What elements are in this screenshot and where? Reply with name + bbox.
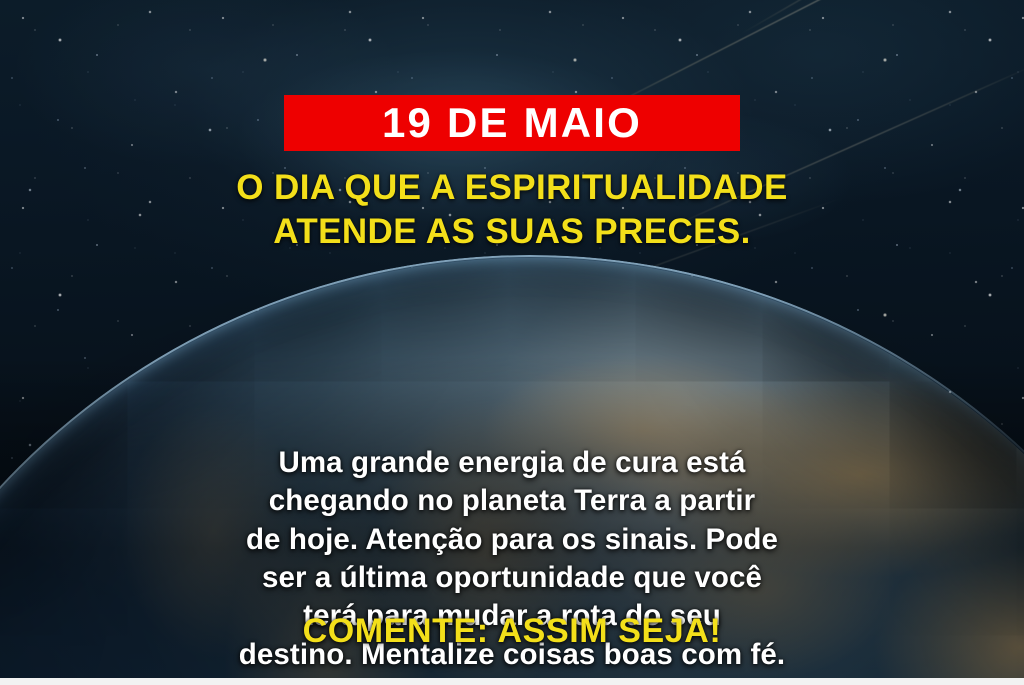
call-to-action: COMENTE: ASSIM SEJA! [0,614,1024,648]
poster-canvas: 19 DE MAIO O DIA QUE A ESPIRITUALIDADE A… [0,0,1024,685]
body-copy-line-3: de hoje. Atenção para os sinais. Pode [52,521,972,559]
body-copy-line-2: chegando no planeta Terra a partir [52,482,972,520]
headline-line-1: O DIA QUE A ESPIRITUALIDADE [46,166,978,210]
date-banner: 19 DE MAIO [284,95,740,151]
body-copy-line-1: Uma grande energia de cura está [52,444,972,482]
poster-content: 19 DE MAIO O DIA QUE A ESPIRITUALIDADE A… [0,0,1024,685]
headline: O DIA QUE A ESPIRITUALIDADE ATENDE AS SU… [0,166,1024,254]
body-copy-line-4: ser a última oportunidade que você [52,559,972,597]
date-banner-label: 19 DE MAIO [382,102,642,144]
headline-line-2: ATENDE AS SUAS PRECES. [46,210,978,254]
bottom-strip [0,678,1024,685]
